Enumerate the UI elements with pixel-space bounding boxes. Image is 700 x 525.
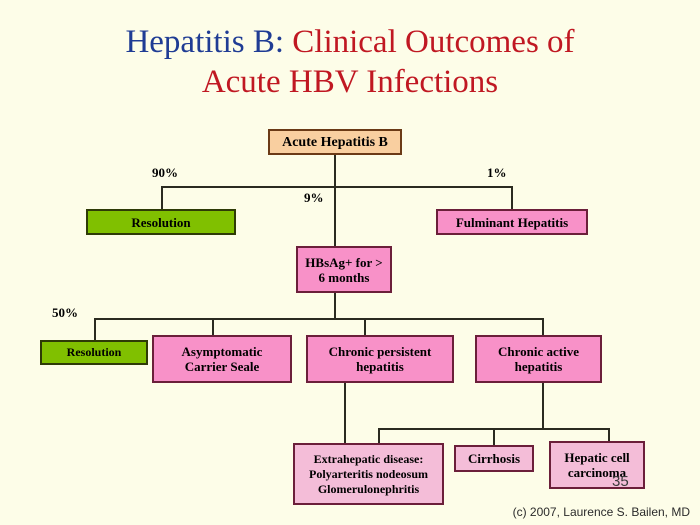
node-asymptomatic-carrier-label-line2: Carrier Seale bbox=[185, 359, 259, 374]
node-extrahepatic-label-line1: Extrahepatic disease: bbox=[314, 452, 424, 467]
node-hbsag-label-line2: 6 months bbox=[319, 270, 370, 285]
node-resolution-mid-label: Resolution bbox=[67, 345, 122, 360]
connector-to-resolution-mid bbox=[94, 318, 96, 340]
connector-hbsag-down bbox=[334, 293, 336, 318]
connector-to-carrier bbox=[212, 318, 214, 335]
node-extrahepatic-label-line2: Polyarteritis nodeosum bbox=[309, 467, 428, 482]
page-title-line2: Acute HBV Infections bbox=[0, 62, 700, 102]
node-cirrhosis-label: Cirrhosis bbox=[468, 451, 520, 466]
node-chronic-active-hepatitis[interactable]: Chronic active hepatitis bbox=[475, 335, 602, 383]
connector-to-persistent bbox=[364, 318, 366, 335]
node-extrahepatic-label-line3: Glomerulonephritis bbox=[318, 482, 419, 497]
node-fulminant-hepatitis[interactable]: Fulminant Hepatitis bbox=[436, 209, 588, 235]
connector-to-hcc bbox=[608, 428, 610, 441]
slide-canvas: Hepatitis B: Clinical Outcomes of Acute … bbox=[0, 0, 700, 525]
title-part-red: Clinical Outcomes of bbox=[284, 24, 575, 60]
copyright-footer: (c) 2007, Laurence S. Bailen, MD bbox=[513, 505, 690, 519]
node-chronic-persistent-label-line1: Chronic persistent bbox=[329, 344, 432, 359]
page-title: Hepatitis B: Clinical Outcomes of bbox=[0, 22, 700, 62]
node-chronic-persistent-hepatitis[interactable]: Chronic persistent hepatitis bbox=[306, 335, 454, 383]
node-resolution-mid[interactable]: Resolution bbox=[40, 340, 148, 365]
node-resolution-top-label: Resolution bbox=[131, 215, 190, 230]
connector-persistent-down bbox=[344, 383, 346, 443]
percent-label-1: 1% bbox=[487, 165, 507, 181]
connector-to-hbsag bbox=[334, 186, 336, 246]
node-chronic-active-label-line1: Chronic active bbox=[498, 344, 579, 359]
node-cirrhosis[interactable]: Cirrhosis bbox=[454, 445, 534, 472]
slide-number: 35 bbox=[612, 473, 629, 490]
connector-to-resolution-top bbox=[161, 186, 163, 209]
connector-acute-down bbox=[334, 155, 336, 186]
connector-active-down bbox=[542, 383, 544, 428]
node-asymptomatic-carrier[interactable]: Asymptomatic Carrier Seale bbox=[152, 335, 292, 383]
connector-second-bus bbox=[94, 318, 544, 320]
node-resolution-top[interactable]: Resolution bbox=[86, 209, 236, 235]
node-asymptomatic-carrier-label-line1: Asymptomatic bbox=[182, 344, 263, 359]
node-hbsag[interactable]: HBsAg+ for > 6 months bbox=[296, 246, 392, 293]
percent-label-9: 9% bbox=[304, 190, 324, 206]
percent-label-90: 90% bbox=[152, 165, 178, 181]
node-fulminant-hepatitis-label: Fulminant Hepatitis bbox=[456, 215, 568, 230]
connector-to-active bbox=[542, 318, 544, 335]
node-hcc-label-line1: Hepatic cell bbox=[564, 450, 629, 465]
connector-to-cirrhosis bbox=[493, 428, 495, 445]
node-extrahepatic-disease[interactable]: Extrahepatic disease: Polyarteritis node… bbox=[293, 443, 444, 505]
title-part-blue: Hepatitis B: bbox=[125, 24, 284, 60]
node-hbsag-label-line1: HBsAg+ for > bbox=[305, 255, 382, 270]
node-chronic-active-label-line2: hepatitis bbox=[515, 359, 563, 374]
connector-top-bus bbox=[161, 186, 513, 188]
connector-to-fulminant bbox=[511, 186, 513, 209]
node-acute-hepatitis-b[interactable]: Acute Hepatitis B bbox=[268, 129, 402, 155]
node-hepatic-cell-carcinoma[interactable]: Hepatic cell carcinoma bbox=[549, 441, 645, 489]
connector-to-extrahepatic bbox=[378, 428, 380, 443]
node-chronic-persistent-label-line2: hepatitis bbox=[356, 359, 404, 374]
percent-label-50: 50% bbox=[52, 305, 78, 321]
node-acute-hepatitis-b-label: Acute Hepatitis B bbox=[282, 135, 388, 150]
